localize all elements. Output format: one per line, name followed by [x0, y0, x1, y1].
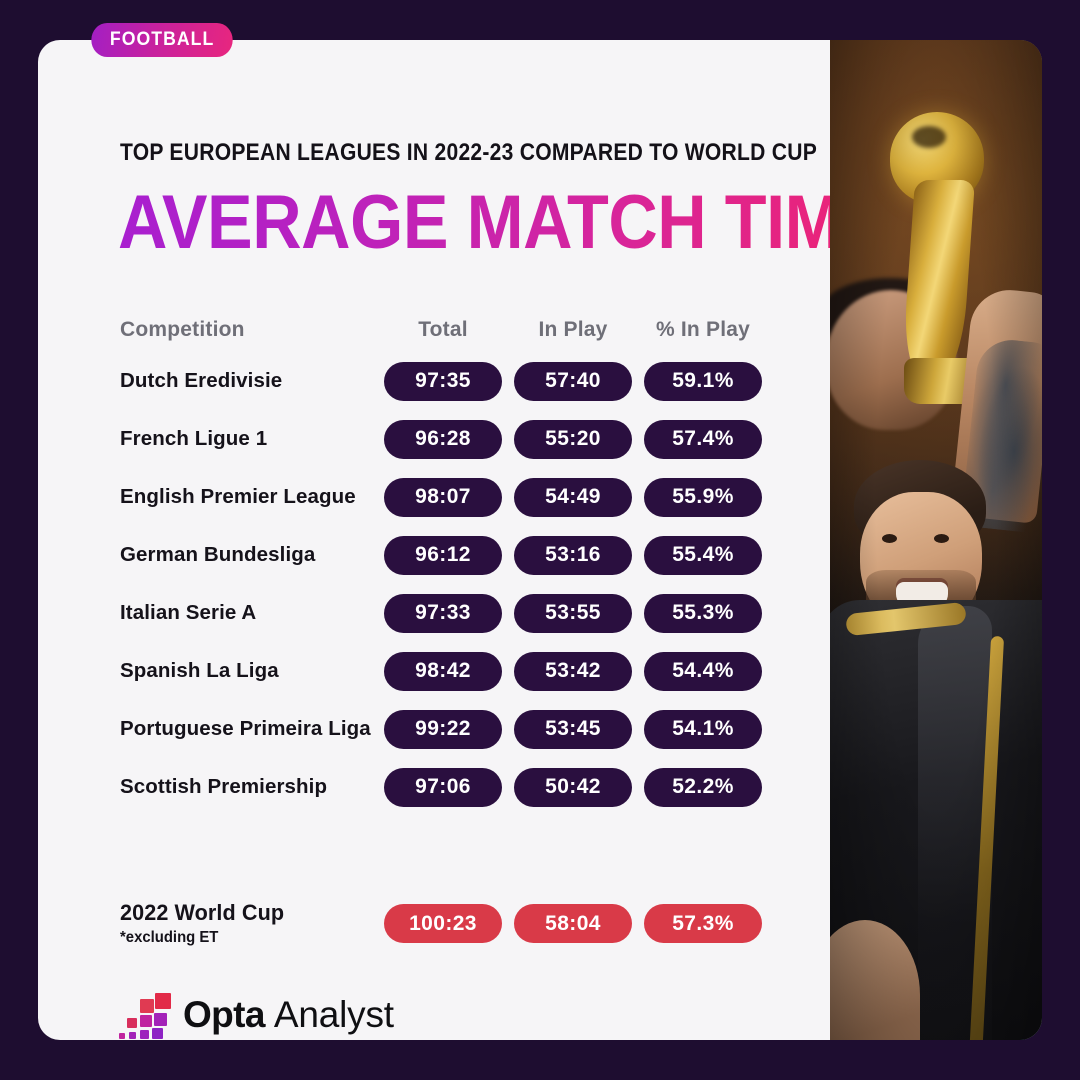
world-cup-title: 2022 World Cup	[120, 900, 368, 926]
total-pill: 98:42	[384, 652, 502, 691]
total-pill: 96:28	[384, 420, 502, 459]
in-play-pill: 55:20	[514, 420, 632, 459]
opta-analyst-logo: Opta Analyst	[118, 988, 394, 1040]
competition-cell: Dutch Eredivisie	[38, 369, 378, 393]
table-row: Scottish Premiership97:0650:4252.2%	[38, 758, 830, 816]
total-cell: 96:28	[378, 420, 508, 459]
kicker-text: TOP EUROPEAN LEAGUES IN 2022-23 COMPARED…	[120, 139, 817, 167]
logo-square	[119, 1033, 125, 1039]
pct-in-play-cell: 55.3%	[638, 594, 768, 633]
logo-square	[152, 1028, 163, 1039]
logo-square	[140, 1015, 152, 1027]
category-badge: FOOTBALL	[91, 23, 233, 57]
pct-in-play-cell: 54.1%	[638, 710, 768, 749]
in-play-cell: 57:40	[508, 362, 638, 401]
logo-wordmark: Opta Analyst	[183, 996, 394, 1033]
in-play-cell: 55:20	[508, 420, 638, 459]
pct-in-play-pill: 59.1%	[644, 362, 762, 401]
total-pill: 97:33	[384, 594, 502, 633]
table-row: Italian Serie A97:3353:5555.3%	[38, 584, 830, 642]
competition-cell: Scottish Premiership	[38, 775, 378, 799]
in-play-pill: 53:55	[514, 594, 632, 633]
competition-cell: Italian Serie A	[38, 601, 378, 625]
pct-in-play-cell: 52.2%	[638, 768, 768, 807]
in-play-pill: 54:49	[514, 478, 632, 517]
world-cup-total-pill: 100:23	[384, 904, 502, 943]
pct-in-play-pill: 55.9%	[644, 478, 762, 517]
competition-label: Dutch Eredivisie	[120, 369, 282, 392]
in-play-pill: 53:42	[514, 652, 632, 691]
pct-in-play-cell: 57.4%	[638, 420, 768, 459]
in-play-cell: 53:55	[508, 594, 638, 633]
world-cup-row: 2022 World Cup *excluding ET 100:23 58:0…	[38, 900, 830, 947]
pct-in-play-cell: 55.9%	[638, 478, 768, 517]
in-play-cell: 53:42	[508, 652, 638, 691]
competition-cell: Spanish La Liga	[38, 659, 378, 683]
logo-square	[127, 1018, 137, 1028]
total-pill: 98:07	[384, 478, 502, 517]
pct-in-play-pill: 54.1%	[644, 710, 762, 749]
competition-label: German Bundesliga	[120, 543, 315, 566]
column-header-in-play: In Play	[508, 318, 638, 342]
pct-in-play-pill: 54.4%	[644, 652, 762, 691]
world-cup-pct-pill: 57.3%	[644, 904, 762, 943]
total-cell: 97:35	[378, 362, 508, 401]
competition-label: Scottish Premiership	[120, 775, 327, 798]
competition-label: Italian Serie A	[120, 601, 256, 624]
pct-in-play-cell: 54.4%	[638, 652, 768, 691]
total-pill: 97:06	[384, 768, 502, 807]
total-pill: 99:22	[384, 710, 502, 749]
world-cup-note: *excluding ET	[120, 929, 368, 947]
total-cell: 97:33	[378, 594, 508, 633]
content-pane: TOP EUROPEAN LEAGUES IN 2022-23 COMPARED…	[38, 40, 830, 1040]
in-play-cell: 50:42	[508, 768, 638, 807]
in-play-cell: 53:16	[508, 536, 638, 575]
table-row: Portuguese Primeira Liga99:2253:4554.1%	[38, 700, 830, 758]
in-play-cell: 54:49	[508, 478, 638, 517]
competition-cell: English Premier League	[38, 485, 378, 509]
world-cup-label: 2022 World Cup *excluding ET	[38, 900, 378, 947]
in-play-pill: 53:45	[514, 710, 632, 749]
world-cup-total-cell: 100:23	[378, 904, 508, 943]
table-row: German Bundesliga96:1253:1655.4%	[38, 526, 830, 584]
competition-label: English Premier League	[120, 485, 356, 508]
total-pill: 97:35	[384, 362, 502, 401]
competition-label: French Ligue 1	[120, 427, 267, 450]
table-header-row: Competition Total In Play % In Play	[38, 308, 830, 352]
photo-pane	[830, 40, 1042, 1040]
total-cell: 96:12	[378, 536, 508, 575]
column-header-total: Total	[378, 318, 508, 342]
infographic-root: TOP EUROPEAN LEAGUES IN 2022-23 COMPARED…	[0, 0, 1080, 1080]
competition-label: Portuguese Primeira Liga	[120, 717, 371, 740]
competition-cell: German Bundesliga	[38, 543, 378, 567]
logo-square	[140, 1030, 149, 1039]
column-header-pct-in-play: % In Play	[638, 318, 768, 342]
in-play-pill: 57:40	[514, 362, 632, 401]
competition-cell: French Ligue 1	[38, 427, 378, 451]
competition-label: Spanish La Liga	[120, 659, 279, 682]
stats-table: Competition Total In Play % In Play Dutc…	[38, 308, 830, 816]
total-cell: 99:22	[378, 710, 508, 749]
pct-in-play-cell: 55.4%	[638, 536, 768, 575]
logo-square	[155, 993, 171, 1009]
logo-square	[129, 1032, 136, 1039]
total-cell: 98:42	[378, 652, 508, 691]
world-cup-in-play-cell: 58:04	[508, 904, 638, 943]
world-cup-celebration-photo	[830, 40, 1042, 1040]
world-cup-pct-cell: 57.3%	[638, 904, 768, 943]
infographic-card: TOP EUROPEAN LEAGUES IN 2022-23 COMPARED…	[38, 40, 1042, 1040]
pct-in-play-pill: 55.3%	[644, 594, 762, 633]
pct-in-play-cell: 59.1%	[638, 362, 768, 401]
total-cell: 98:07	[378, 478, 508, 517]
logo-square	[154, 1013, 167, 1026]
pct-in-play-pill: 55.4%	[644, 536, 762, 575]
in-play-pill: 50:42	[514, 768, 632, 807]
table-row: English Premier League98:0754:4955.9%	[38, 468, 830, 526]
total-cell: 97:06	[378, 768, 508, 807]
pct-in-play-pill: 57.4%	[644, 420, 762, 459]
in-play-cell: 53:45	[508, 710, 638, 749]
in-play-pill: 53:16	[514, 536, 632, 575]
page-title: AVERAGE MATCH TIME	[118, 185, 886, 261]
world-cup-in-play-pill: 58:04	[514, 904, 632, 943]
table-row: French Ligue 196:2855:2057.4%	[38, 410, 830, 468]
table-row: Spanish La Liga98:4253:4254.4%	[38, 642, 830, 700]
photo-vignette	[830, 40, 1042, 1040]
opta-staircase-icon	[118, 988, 170, 1040]
table-body: Dutch Eredivisie97:3557:4059.1%French Li…	[38, 352, 830, 816]
table-row: Dutch Eredivisie97:3557:4059.1%	[38, 352, 830, 410]
competition-cell: Portuguese Primeira Liga	[38, 717, 378, 741]
logo-brand: Opta	[183, 996, 265, 1033]
total-pill: 96:12	[384, 536, 502, 575]
logo-square	[140, 999, 154, 1013]
logo-product: Analyst	[274, 996, 394, 1033]
pct-in-play-pill: 52.2%	[644, 768, 762, 807]
column-header-competition: Competition	[38, 318, 378, 342]
